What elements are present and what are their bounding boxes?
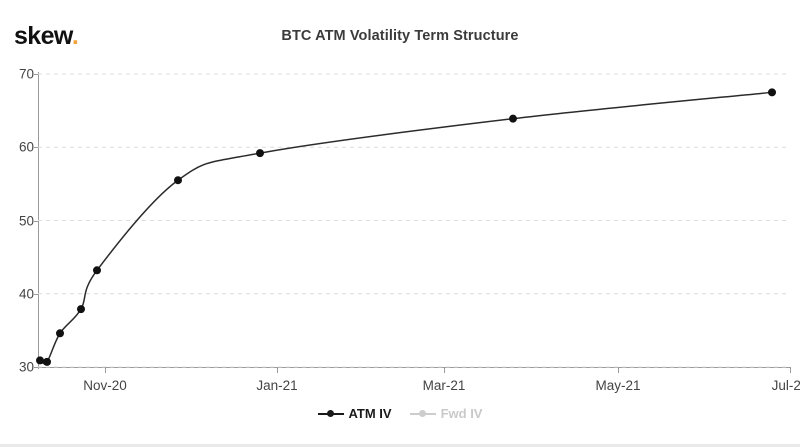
- y-tick-label: 70: [4, 67, 34, 82]
- data-point-marker[interactable]: [509, 115, 517, 123]
- plot-area: [38, 74, 790, 367]
- data-point-marker[interactable]: [768, 88, 776, 96]
- y-axis-tick-labels: 3040506070: [0, 0, 34, 447]
- page-title: BTC ATM Volatility Term Structure: [0, 28, 800, 44]
- legend-item-atm-iv[interactable]: ATM IV: [318, 406, 392, 421]
- x-tick-mark: [444, 367, 445, 373]
- chart-canvas: [38, 74, 790, 367]
- x-tick-label: Jan-21: [256, 378, 297, 393]
- data-point-marker[interactable]: [174, 176, 182, 184]
- data-point-marker[interactable]: [77, 305, 85, 313]
- legend-swatch-icon: [318, 409, 344, 419]
- x-tick-mark: [790, 367, 791, 373]
- x-tick-label: Jul-21: [772, 378, 800, 393]
- data-point-marker[interactable]: [43, 358, 51, 366]
- y-tick-label: 60: [4, 140, 34, 155]
- data-point-marker[interactable]: [93, 266, 101, 274]
- chart-legend: ATM IVFwd IV: [0, 406, 800, 421]
- legend-label: ATM IV: [349, 406, 392, 421]
- y-tick-label: 40: [4, 286, 34, 301]
- x-tick-mark: [105, 367, 106, 373]
- x-tick-mark: [618, 367, 619, 373]
- y-tick-label: 50: [4, 213, 34, 228]
- legend-item-fwd-iv[interactable]: Fwd IV: [410, 406, 483, 421]
- x-tick-mark: [277, 367, 278, 373]
- series-line-atm-iv: [40, 92, 772, 363]
- legend-swatch-icon: [410, 409, 436, 419]
- data-point-marker[interactable]: [56, 329, 64, 337]
- x-tick-label: Nov-20: [83, 378, 127, 393]
- x-tick-label: Mar-21: [423, 378, 466, 393]
- y-tick-label: 30: [4, 360, 34, 375]
- legend-label: Fwd IV: [441, 406, 483, 421]
- x-tick-label: May-21: [595, 378, 640, 393]
- data-point-marker[interactable]: [256, 149, 264, 157]
- data-point-marker[interactable]: [36, 356, 44, 364]
